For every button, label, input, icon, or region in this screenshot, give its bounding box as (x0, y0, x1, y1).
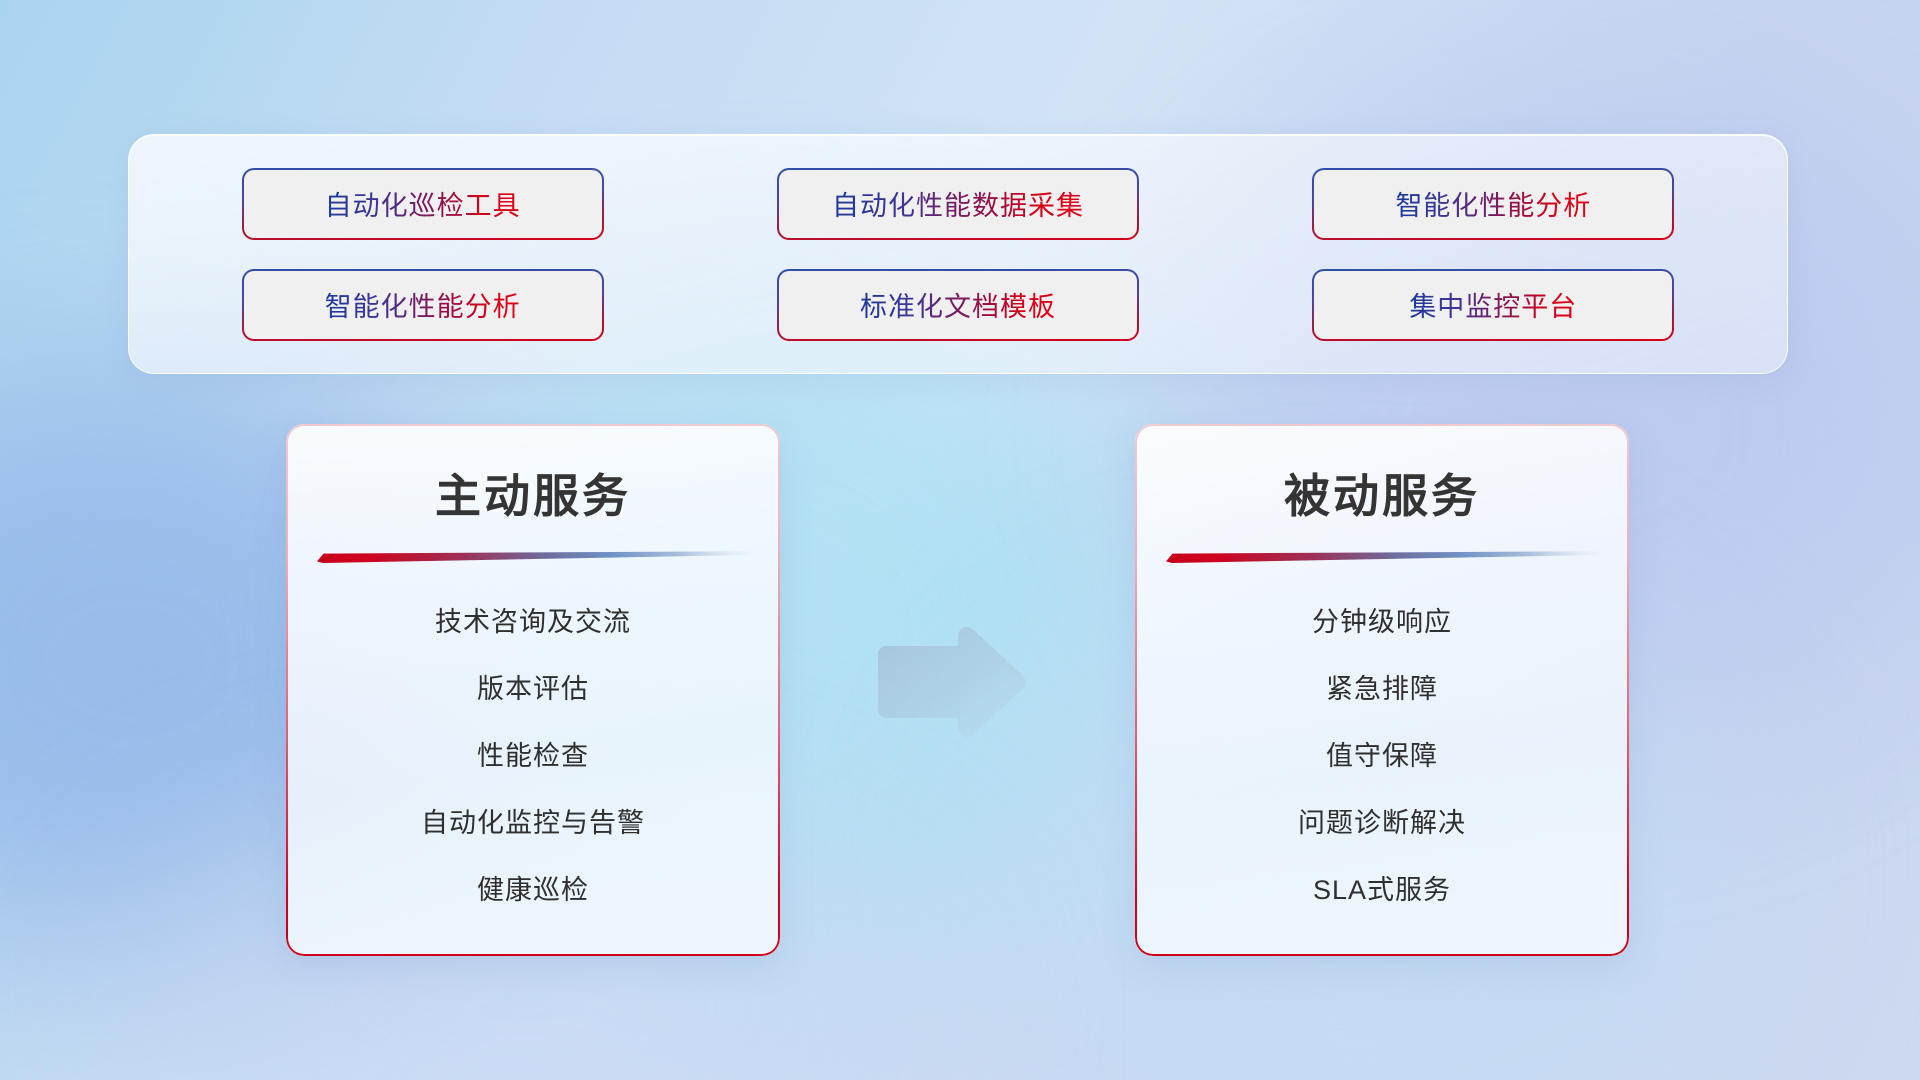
list-item: 健康巡检 (286, 857, 780, 924)
capability-tag[interactable]: 集中监控平台 (1314, 271, 1672, 339)
card-divider (1166, 550, 1598, 563)
capability-tag-label: 标准化文档模板 (860, 285, 1056, 324)
service-list: 分钟级响应 紧急排障 值守保障 问题诊断解决 SLA式服务 (1135, 589, 1629, 924)
arrow-right-icon (872, 626, 1032, 738)
card-title: 被动服务 (1135, 460, 1629, 526)
service-card-passive: 被动服务 分钟级响应 紧急排障 (1135, 424, 1629, 956)
list-item: 性能检查 (286, 723, 780, 790)
capability-tag[interactable]: 智能化性能分析 (1314, 170, 1672, 238)
list-item: 紧急排障 (1135, 656, 1629, 723)
capability-tag[interactable]: 智能化性能分析 (244, 271, 602, 339)
capability-tag-label: 集中监控平台 (1409, 285, 1577, 324)
capability-tag[interactable]: 自动化巡检工具 (244, 170, 602, 238)
service-list: 技术咨询及交流 版本评估 性能检查 自动化监控与告警 健康巡检 (286, 589, 780, 924)
slide-canvas: 自动化巡检工具 自动化性能数据采集 智能化性能分析 智能化性能分析 标准化文档模… (0, 0, 1920, 1080)
list-item: 问题诊断解决 (1135, 790, 1629, 857)
service-card-active: 主动服务 技术咨询及交流 版本评估 (286, 424, 780, 956)
capability-tag-label: 智能化性能分析 (1395, 184, 1591, 223)
list-item: 版本评估 (286, 656, 780, 723)
capability-tag-label: 自动化性能数据采集 (832, 184, 1084, 223)
capability-tag-label: 自动化巡检工具 (325, 184, 521, 223)
capability-tag[interactable]: 标准化文档模板 (779, 271, 1137, 339)
list-item: SLA式服务 (1135, 857, 1629, 924)
card-divider (317, 550, 749, 563)
list-item: 分钟级响应 (1135, 589, 1629, 656)
card-title: 主动服务 (286, 460, 780, 526)
capability-panel: 自动化巡检工具 自动化性能数据采集 智能化性能分析 智能化性能分析 标准化文档模… (128, 134, 1788, 374)
list-item: 值守保障 (1135, 723, 1629, 790)
capability-tag-label: 智能化性能分析 (325, 285, 521, 324)
capability-tag[interactable]: 自动化性能数据采集 (779, 170, 1137, 238)
list-item: 自动化监控与告警 (286, 790, 780, 857)
list-item: 技术咨询及交流 (286, 589, 780, 656)
